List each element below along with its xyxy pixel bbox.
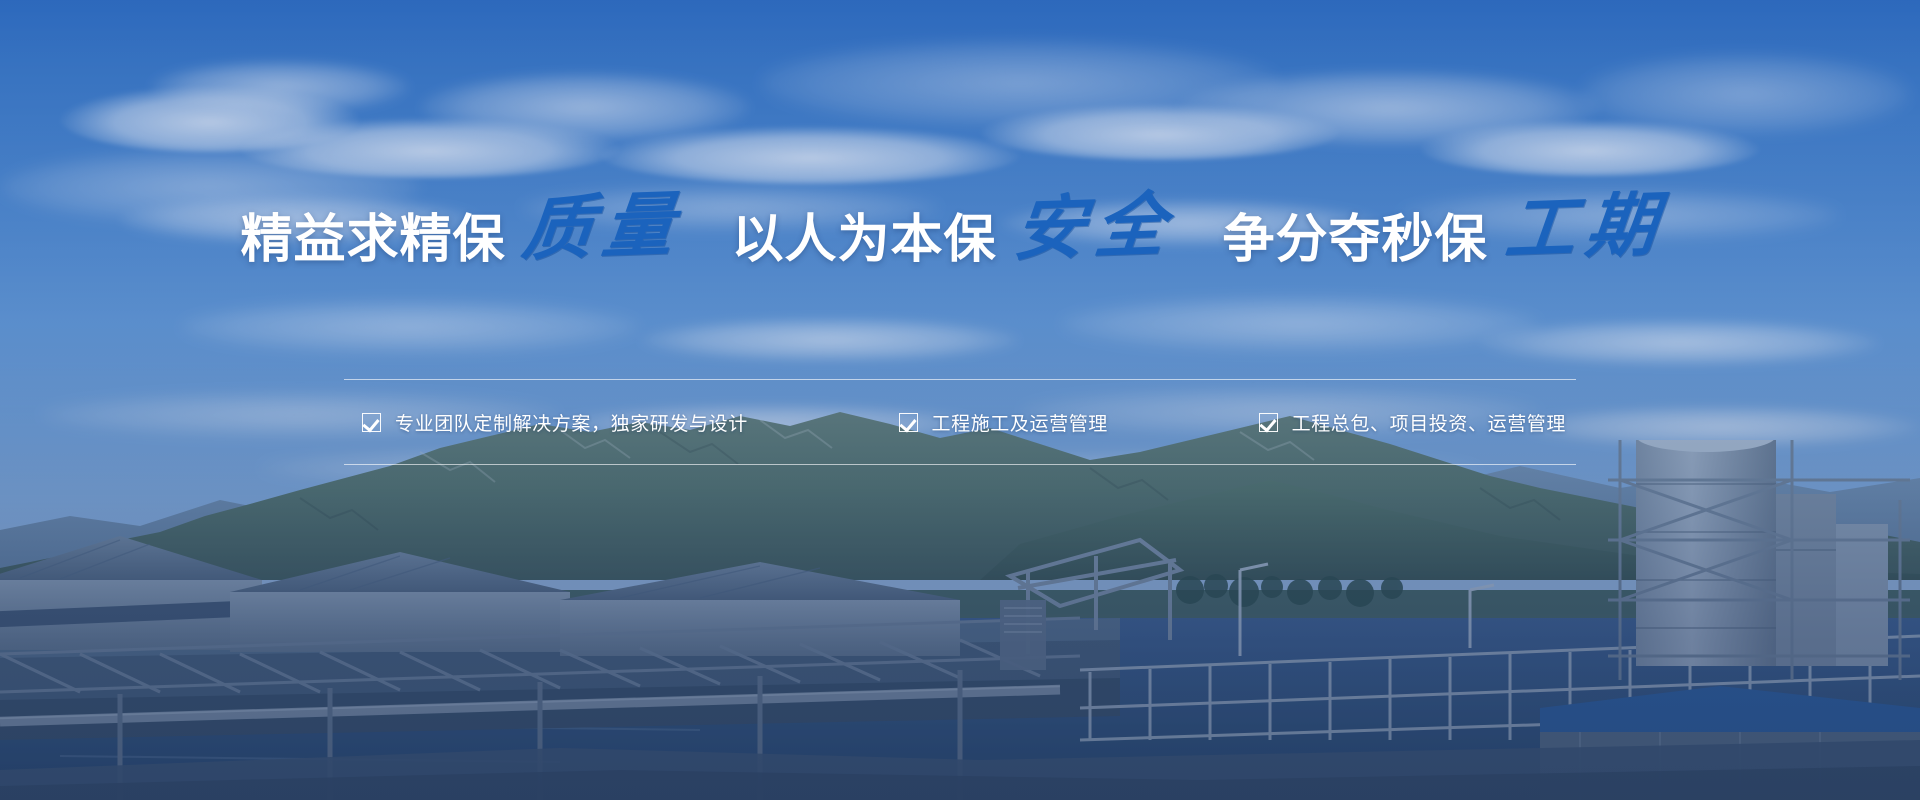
checkbox-checked-icon — [899, 413, 918, 432]
headline: 精益求精保 质量 以人为本保 安全 争分夺秒保 工期 — [0, 198, 1920, 268]
feature-label-1: 专业团队定制解决方案，独家研发与设计 — [395, 409, 748, 436]
headline-script-2: 安全 — [1010, 189, 1178, 265]
checkbox-checked-icon — [362, 413, 381, 432]
divider-top — [344, 379, 1576, 380]
headline-script-3: 工期 — [1501, 189, 1669, 265]
feature-list: 专业团队定制解决方案，独家研发与设计 工程施工及运营管理 工程总包、项目投资、运… — [344, 398, 1576, 446]
headline-plain-3: 争分夺秒保 — [1223, 214, 1488, 266]
headline-plain-2: 以人为本保 — [731, 214, 996, 266]
headline-segment-1: 精益求精保 质量 — [240, 198, 697, 268]
feature-item-1: 专业团队定制解决方案，独家研发与设计 — [362, 409, 748, 436]
headline-segment-2: 以人为本保 安全 — [731, 198, 1188, 268]
divider-bottom — [344, 464, 1576, 465]
headline-plain-1: 精益求精保 — [240, 214, 505, 266]
feature-item-2: 工程施工及运营管理 — [899, 409, 1108, 436]
hero-banner: 精益求精保 质量 以人为本保 安全 争分夺秒保 工期 专业团队定制解决方案，独家… — [0, 0, 1920, 800]
banner-content: 精益求精保 质量 以人为本保 安全 争分夺秒保 工期 专业团队定制解决方案，独家… — [0, 0, 1920, 800]
headline-segment-3: 争分夺秒保 工期 — [1223, 198, 1680, 268]
feature-label-2: 工程施工及运营管理 — [932, 409, 1108, 436]
checkbox-checked-icon — [1259, 413, 1278, 432]
feature-label-3: 工程总包、项目投资、运营管理 — [1292, 409, 1566, 436]
feature-item-3: 工程总包、项目投资、运营管理 — [1259, 409, 1566, 436]
headline-script-1: 质量 — [519, 189, 687, 265]
